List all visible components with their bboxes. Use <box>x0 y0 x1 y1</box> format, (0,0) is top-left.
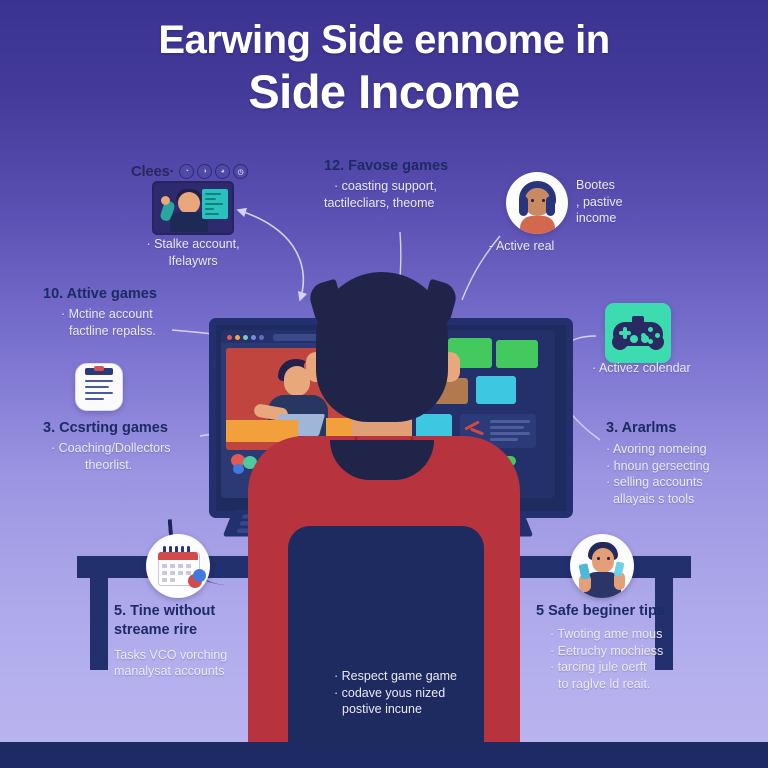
note-stream-account: · Stalke account, Ifelaywrs <box>120 233 266 269</box>
note-respect-game: · Respect game game · codave yous nized … <box>334 668 554 718</box>
safe-tips-item-2: · Eetruchy mochiess <box>536 643 746 660</box>
gamepad-icon <box>605 303 671 363</box>
code-panel-icon <box>202 189 228 219</box>
activez-calendar-caption: · Activez colendar <box>592 360 757 377</box>
active-games-heading: 10. Attive games <box>43 286 223 303</box>
active-games-line-2: factline repalss. <box>43 323 223 340</box>
safe-tips-item-4: to raglve ld reait. <box>536 676 746 693</box>
gamepad-shape <box>613 316 663 350</box>
respect-line-1: · Respect game game <box>334 668 554 685</box>
safe-tips-item-1: · Twoting ame mous <box>536 626 746 643</box>
beginner-tips-icon <box>570 534 634 598</box>
stream-caption-line-2: Ifelaywrs <box>120 253 266 270</box>
active-games-line-1: · Mctine account <box>43 306 223 323</box>
note-activez-calendar: · Activez colendar <box>592 357 757 377</box>
streamer-hand <box>161 196 170 205</box>
note-passive-income: Bootes , pastive income <box>576 177 706 227</box>
avatar-icon <box>506 172 568 234</box>
coaching-line-1: · Coaching/Dollectors <box>43 440 233 457</box>
calendar-icon <box>146 534 210 598</box>
badge-icon-1: ◔ <box>179 164 194 179</box>
active-real-caption: - Active real <box>489 238 649 255</box>
passive-income-line-2: , pastive <box>576 194 706 211</box>
tips-person-face <box>592 548 614 573</box>
clees-brand-row: Clees· ◔ ◑ ◕ ◷ <box>131 163 248 180</box>
time-without-heading-2: streame rire <box>114 622 329 639</box>
respect-line-3: postive incune <box>334 701 554 718</box>
avatar-hair-left <box>519 196 528 216</box>
alarms-heading: 3. Ararlms <box>606 420 766 437</box>
coaching-line-2: theorlist. <box>43 457 233 474</box>
passive-income-line-3: income <box>576 210 706 227</box>
note-coaching: 3. Ccsrting games · Coaching/Dollectors … <box>43 420 233 473</box>
time-without-body-1: Tasks VCO vorching <box>114 647 329 664</box>
clipboard-icon <box>75 363 123 411</box>
stream-thumbnail-icon <box>152 181 234 235</box>
badge-icon-2: ◑ <box>197 164 212 179</box>
note-alarms: 3. Ararlms · Avoring nomeing · hnoun ger… <box>606 420 766 507</box>
favose-games-line-2: tactilecliars, theome <box>324 195 514 212</box>
avatar-body <box>520 216 555 234</box>
time-without-heading-1: 5. Tine without <box>114 603 329 620</box>
favose-games-line-1: · coasting support, <box>324 178 514 195</box>
person-head <box>316 272 448 422</box>
alarms-item-3: · selling accounts <box>606 474 766 491</box>
bottom-band <box>0 742 768 768</box>
alarms-item-1: · Avoring nomeing <box>606 441 766 458</box>
respect-line-2: · codave yous nized <box>334 685 554 702</box>
streamer-face <box>178 192 200 214</box>
calendar-badge-blue <box>193 569 206 582</box>
avatar-hair-right <box>546 196 555 216</box>
coaching-heading: 3. Ccsrting games <box>43 420 233 437</box>
note-time-without-stream: 5. Tine without streame rire Tasks VCO v… <box>114 603 329 680</box>
calendar-header <box>158 552 198 560</box>
alarms-item-2: · hnoun gersecting <box>606 458 766 475</box>
favose-games-heading: 12. Favose games <box>324 158 514 175</box>
clees-badge-group: ◔ ◑ ◕ ◷ <box>179 164 248 179</box>
clipboard-clip <box>94 366 104 371</box>
note-active-real: - Active real <box>489 238 649 255</box>
passive-income-line-1: Bootes <box>576 177 706 194</box>
time-without-body-2: manalysat accounts <box>114 663 329 680</box>
stream-caption-line-1: · Stalke account, <box>120 236 266 253</box>
title-line-2: Side Income <box>0 65 768 119</box>
note-active-games: 10. Attive games · Mctine account factli… <box>43 286 223 339</box>
note-favose-games: 12. Favose games · coasting support, tac… <box>324 158 514 211</box>
alarms-item-4: allayais s tools <box>606 491 766 508</box>
page-title: Earwing Side ennome in Side Income <box>0 18 768 119</box>
note-safe-beginner-tips: 5 Safe beginer tips · Twoting ame mous ·… <box>536 603 746 692</box>
infographic-canvas: Earwing Side ennome in Side Income Clees… <box>0 0 768 768</box>
safe-tips-heading: 5 Safe beginer tips <box>536 603 746 620</box>
phone-icon-left <box>579 563 591 580</box>
desk-leg-left <box>90 578 108 670</box>
badge-icon-4: ◷ <box>233 164 248 179</box>
title-line-1: Earwing Side ennome in <box>0 18 768 63</box>
clees-label: Clees· <box>131 163 174 180</box>
safe-tips-item-3: · tarcing jule oerft <box>536 659 746 676</box>
badge-icon-3: ◕ <box>215 164 230 179</box>
